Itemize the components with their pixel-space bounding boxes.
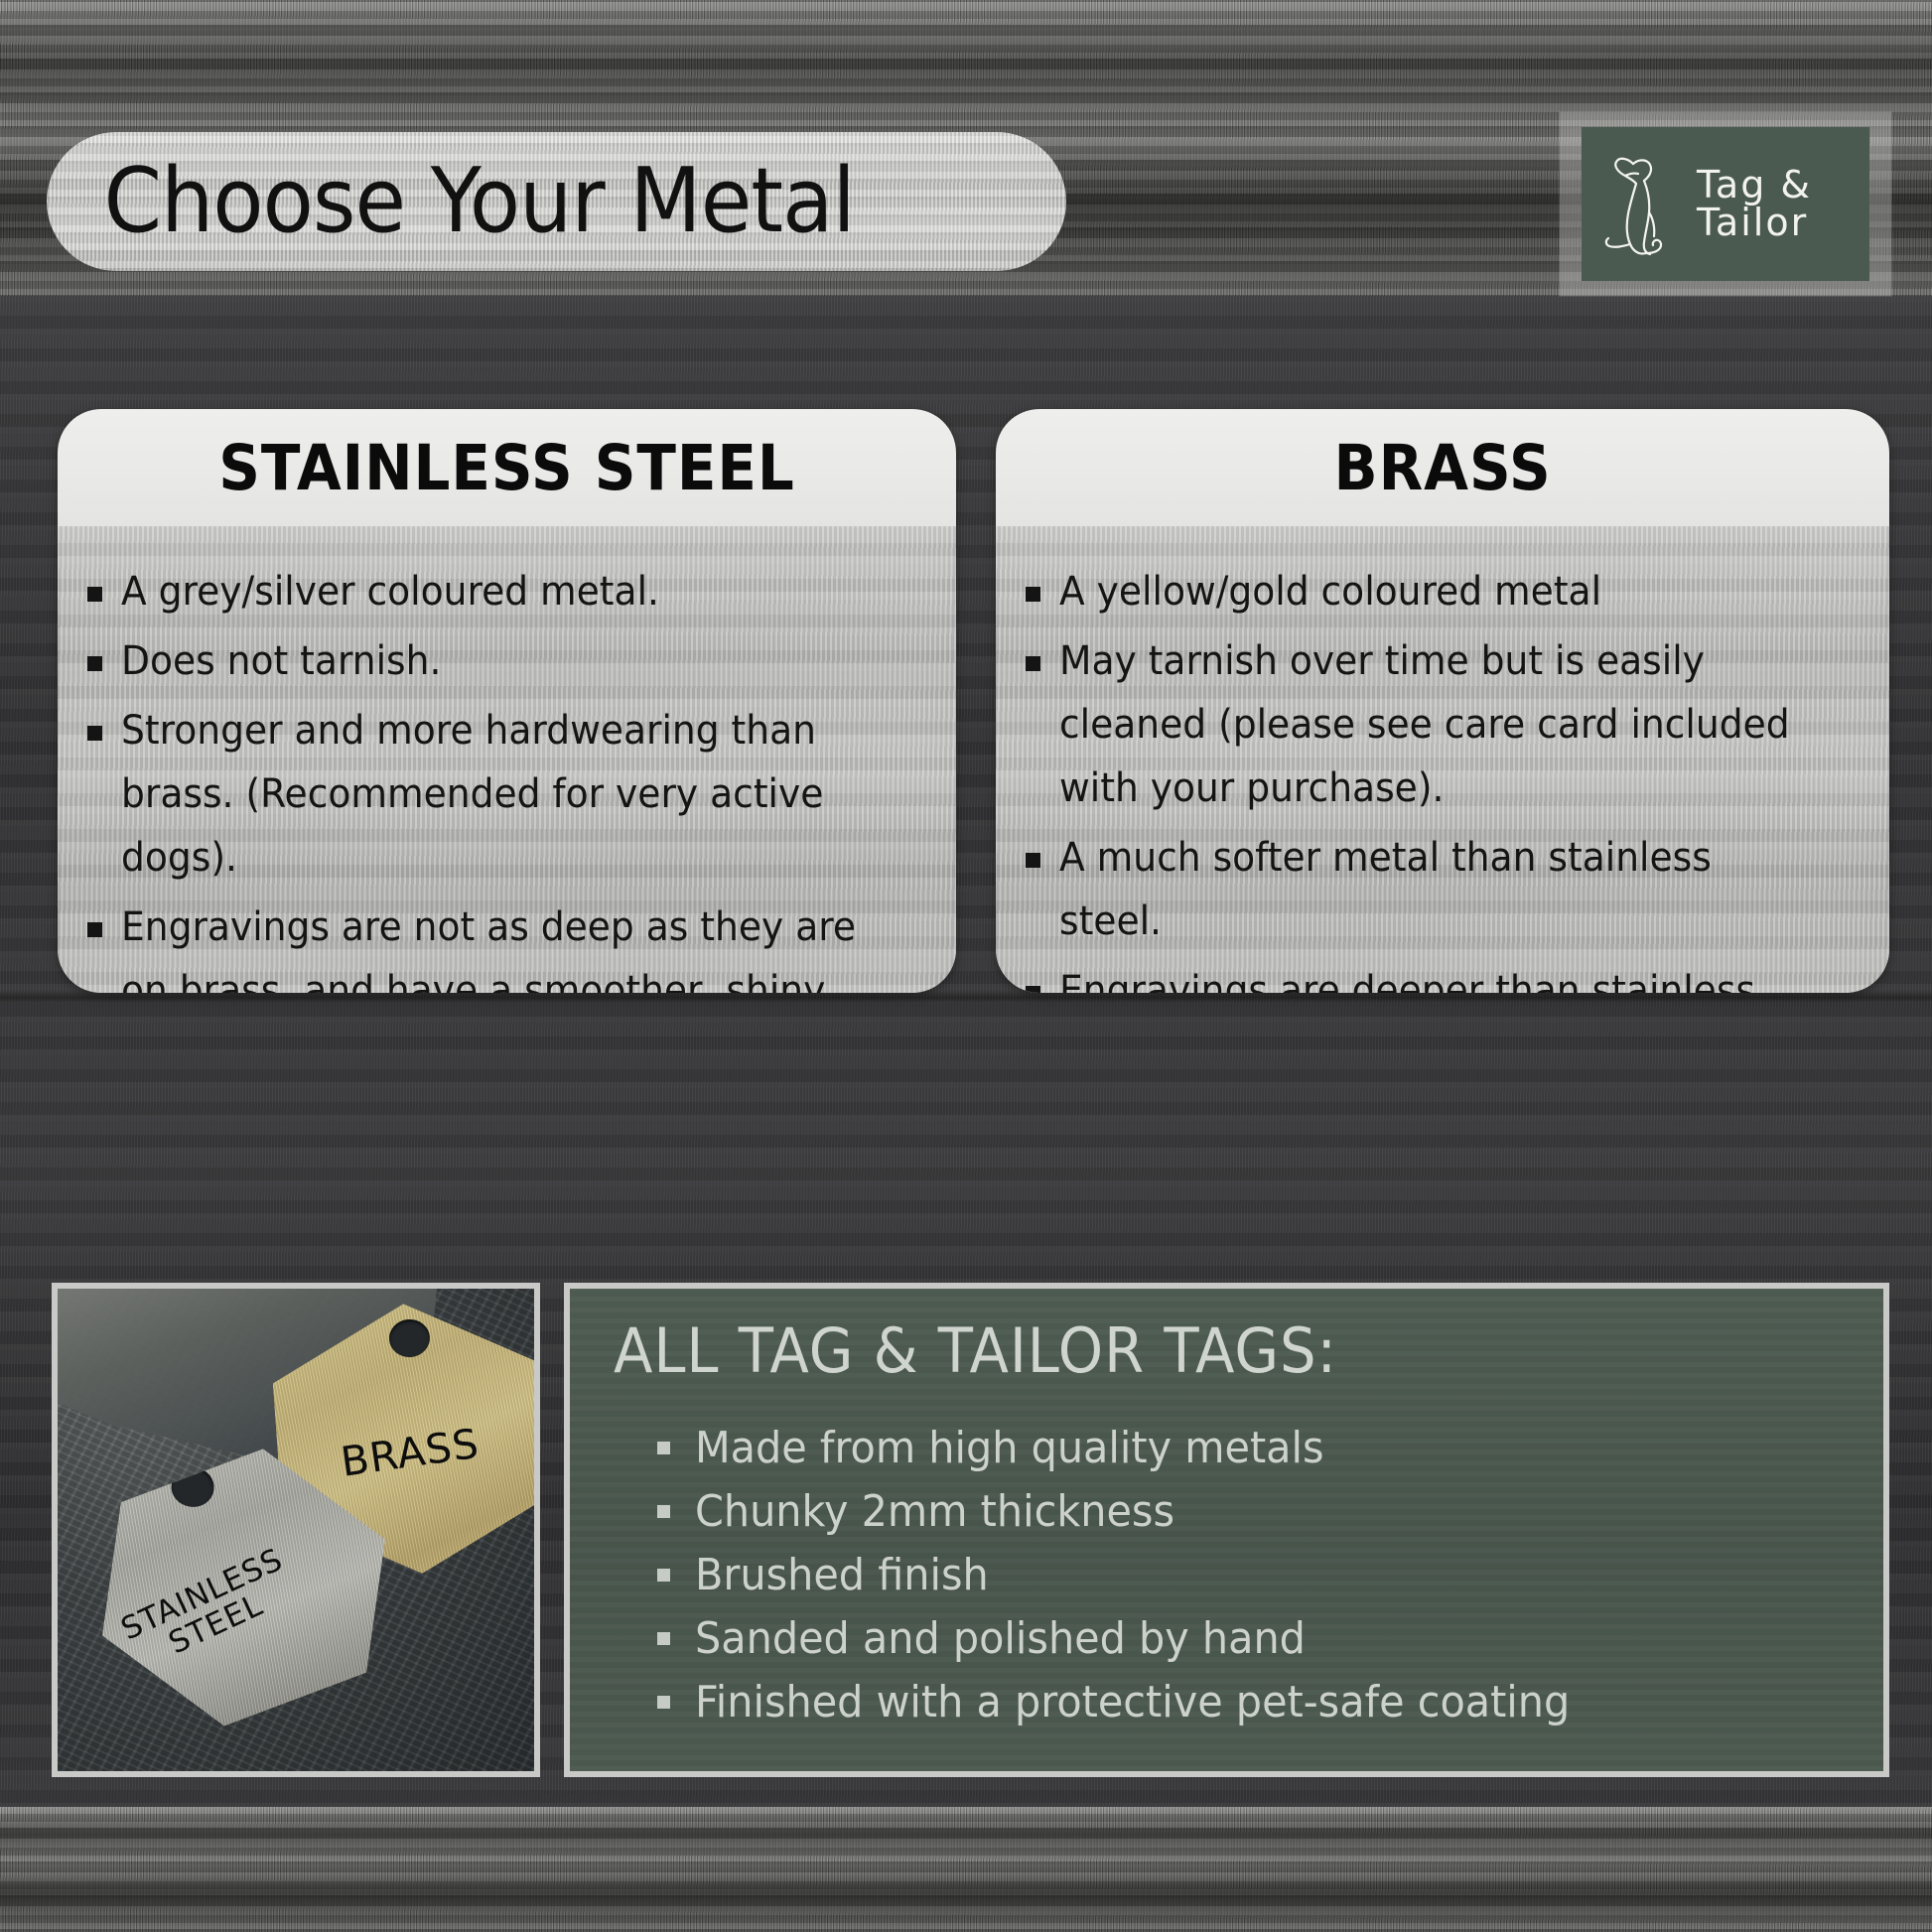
brand-logo-line-2: Tailor [1697, 205, 1812, 241]
list-item: Engravings are deeper than stainless ste… [1026, 959, 1860, 993]
list-item: A much softer metal than stainless steel… [1026, 826, 1860, 953]
bullet-text: Finished with a protective pet-safe coat… [695, 1671, 1570, 1734]
bullet-square-icon [657, 1417, 695, 1480]
all-tags-panel: ALL TAG & TAILOR TAGS: Made from high qu… [570, 1289, 1883, 1771]
bullet-text: Does not tarnish. [121, 629, 878, 693]
bullet-square-icon [1026, 959, 1059, 993]
bullet-square-icon [1026, 560, 1059, 623]
card-body-brass: A yellow/gold coloured metal May tarnish… [996, 526, 1889, 993]
list-item: Engravings are not as deep as they are o… [87, 896, 926, 993]
card-header-stainless-steel: STAINLESS STEEL [58, 409, 956, 526]
stainless-steel-tag-label: STAINLESS STEEL [116, 1544, 302, 1678]
brand-logo-wordmark: Tag & Tailor [1697, 167, 1812, 240]
bullet-square-icon [1026, 629, 1059, 693]
bullet-text: Sanded and polished by hand [695, 1607, 1306, 1671]
brand-logo-frame: Tag & Tailor [1560, 112, 1891, 296]
bullet-square-icon [87, 629, 121, 693]
bullet-square-icon [657, 1544, 695, 1607]
bullet-square-icon [657, 1480, 695, 1544]
card-header-brass: BRASS [996, 409, 1889, 526]
list-item: Finished with a protective pet-safe coat… [657, 1671, 1883, 1734]
list-item: A grey/silver coloured metal. [87, 560, 926, 623]
bullet-text: Chunky 2mm thickness [695, 1480, 1174, 1544]
list-item: Chunky 2mm thickness [657, 1480, 1883, 1544]
bullet-square-icon [87, 699, 121, 762]
bullet-text: Engravings are not as deep as they are o… [121, 896, 878, 993]
list-item: Stronger and more hardwearing than brass… [87, 699, 926, 890]
bullet-text: Made from high quality metals [695, 1417, 1324, 1480]
list-item: Does not tarnish. [87, 629, 926, 693]
tag-hole [388, 1317, 432, 1358]
bullet-text: Stronger and more hardwearing than brass… [121, 699, 878, 890]
page-title: Choose Your Metal [47, 157, 855, 246]
product-photo-frame: BRASS STAINLESS STEEL [52, 1283, 540, 1777]
tag-hole [169, 1465, 216, 1510]
sitting-dog-line-icon [1603, 146, 1685, 263]
bullet-text: Engravings are deeper than stainless ste… [1059, 959, 1812, 993]
bullet-square-icon [657, 1671, 695, 1734]
bullet-text: Brushed finish [695, 1544, 989, 1607]
product-photo: BRASS STAINLESS STEEL [58, 1289, 534, 1771]
page-title-banner: Choose Your Metal [47, 132, 1066, 271]
list-item: Sanded and polished by hand [657, 1607, 1883, 1671]
wood-texture-bottom [0, 1807, 1932, 1932]
card-title-stainless-steel: STAINLESS STEEL [218, 432, 795, 504]
bullet-square-icon [1026, 826, 1059, 890]
bullet-square-icon [87, 896, 121, 959]
bullet-text: A yellow/gold coloured metal [1059, 560, 1812, 623]
list-item: A yellow/gold coloured metal [1026, 560, 1860, 623]
bullet-square-icon [87, 560, 121, 623]
bullet-square-icon [657, 1607, 695, 1671]
metal-card-stainless-steel: STAINLESS STEEL A grey/silver coloured m… [58, 409, 956, 993]
card-title-brass: BRASS [1333, 432, 1551, 504]
all-tags-panel-frame: ALL TAG & TAILOR TAGS: Made from high qu… [564, 1283, 1889, 1777]
metal-card-brass: BRASS A yellow/gold coloured metal May t… [996, 409, 1889, 993]
brass-tag-label: BRASS [338, 1421, 482, 1483]
bullet-text: A much softer metal than stainless steel… [1059, 826, 1812, 953]
card-body-stainless-steel: A grey/silver coloured metal. Does not t… [58, 526, 956, 993]
list-item: Brushed finish [657, 1544, 1883, 1607]
infographic-canvas: Choose Your Metal Tag & Tailor [0, 0, 1932, 1932]
all-tags-heading: ALL TAG & TAILOR TAGS: [614, 1314, 1794, 1387]
list-item: May tarnish over time but is easily clea… [1026, 629, 1860, 820]
brand-logo: Tag & Tailor [1582, 127, 1869, 281]
bullet-text: A grey/silver coloured metal. [121, 560, 878, 623]
brand-logo-line-1: Tag & [1697, 167, 1812, 204]
bullet-text: May tarnish over time but is easily clea… [1059, 629, 1812, 820]
list-item: Made from high quality metals [657, 1417, 1883, 1480]
